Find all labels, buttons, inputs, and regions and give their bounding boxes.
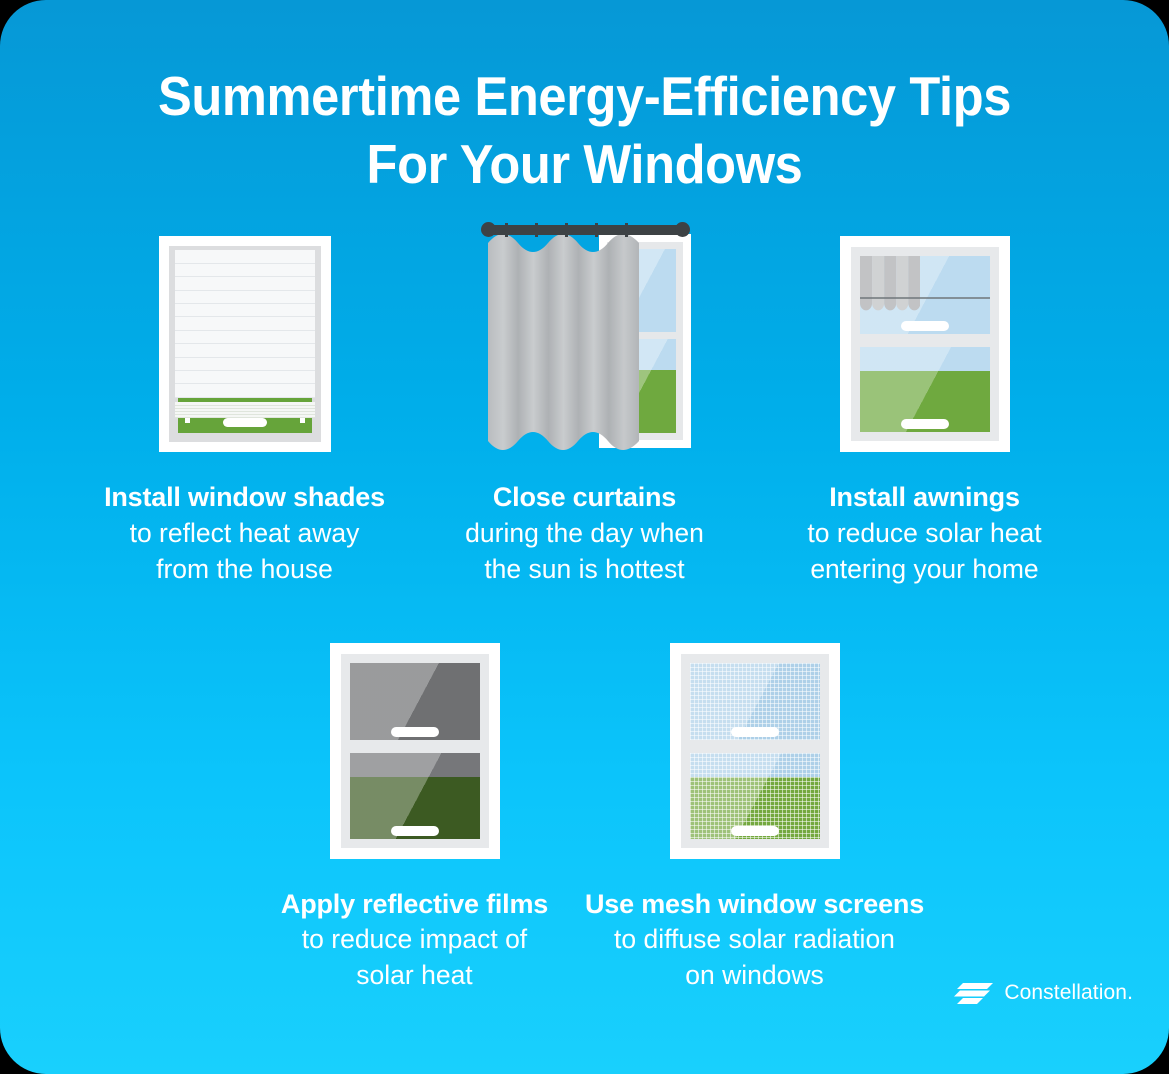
- brand-name: Constellation.: [1004, 981, 1133, 1005]
- tip-card-awnings: Install awnings to reduce solar heat ent…: [755, 220, 1095, 586]
- page-title: Summertime Energy-Efficiency Tips For Yo…: [47, 0, 1122, 198]
- tip-headline: Install window shades: [104, 481, 385, 513]
- blind-slat: [175, 317, 315, 330]
- title-line-1: Summertime Energy-Efficiency Tips: [84, 62, 1086, 130]
- mesh-screen-window-icon: [670, 643, 840, 859]
- curtain-rod-icon: [485, 225, 685, 235]
- curtain-rod-finial-icon: [675, 222, 690, 237]
- curtain-rod-finial-icon: [481, 222, 496, 237]
- tip-body-line-1: to reflect heat away: [104, 516, 385, 550]
- tip-card-reflective-films: Apply reflective films to reduce impact …: [245, 627, 585, 993]
- tip-card-mesh-screens: Use mesh window screens to diffuse solar…: [585, 627, 925, 993]
- tip-headline: Apply reflective films: [281, 888, 548, 920]
- blind-slat: [175, 331, 315, 344]
- blind-slat-compressed: [175, 415, 315, 418]
- tip-headline: Use mesh window screens: [585, 888, 924, 920]
- constellation-swoosh-icon: [953, 978, 995, 1008]
- tip-headline: Close curtains: [465, 481, 704, 513]
- tip-caption: Apply reflective films to reduce impact …: [281, 888, 548, 993]
- blind-slat: [175, 250, 315, 263]
- tip-caption: Close curtains during the day when the s…: [465, 481, 704, 586]
- curtain-window-icon: [479, 220, 691, 452]
- tip-headline: Install awnings: [807, 481, 1041, 513]
- tip-body-line-1: during the day when: [465, 516, 704, 550]
- tip-caption: Install awnings to reduce solar heat ent…: [807, 481, 1041, 586]
- awning-window-icon: [840, 236, 1010, 452]
- blind-slat: [175, 264, 315, 277]
- tip-card-window-shades: Install window shades to reflect heat aw…: [75, 220, 415, 586]
- tip-body-line-2: solar heat: [281, 958, 548, 992]
- blind-slat: [175, 291, 315, 304]
- blind-slat: [175, 344, 315, 357]
- tip-body-line-2: the sun is hottest: [465, 552, 704, 586]
- tip-caption: Use mesh window screens to diffuse solar…: [585, 888, 924, 993]
- tip-illustration-slot: [840, 220, 1010, 452]
- tip-illustration-slot: [159, 220, 331, 452]
- blind-slat: [175, 371, 315, 384]
- tinted-window-icon: [330, 643, 500, 859]
- tip-card-close-curtains: Close curtains during the day when the s…: [415, 220, 755, 586]
- tip-body-line-1: to reduce solar heat: [807, 516, 1041, 550]
- tip-body-line-1: to reduce impact of: [281, 922, 548, 956]
- tips-row-top: Install window shades to reflect heat aw…: [0, 220, 1169, 586]
- blind-slat: [175, 277, 315, 290]
- brand-logo: Constellation.: [953, 978, 1133, 1008]
- tip-illustration-slot: [670, 627, 840, 859]
- tip-illustration-slot: [330, 627, 500, 859]
- blind-slat: [175, 358, 315, 371]
- tips-row-bottom: Apply reflective films to reduce impact …: [0, 627, 1169, 993]
- tip-body-line-2: entering your home: [807, 552, 1041, 586]
- blind-slat: [175, 384, 315, 397]
- tip-body-line-2: on windows: [585, 958, 924, 992]
- window-blinds-icon: [159, 236, 331, 452]
- tip-illustration-slot: [479, 220, 691, 452]
- tip-caption: Install window shades to reflect heat aw…: [104, 481, 385, 586]
- blind-slat: [175, 304, 315, 317]
- infographic-poster: Summertime Energy-Efficiency Tips For Yo…: [0, 0, 1169, 1074]
- tip-body-line-2: from the house: [104, 552, 385, 586]
- title-line-2: For Your Windows: [84, 130, 1086, 198]
- tip-body-line-1: to diffuse solar radiation: [585, 922, 924, 956]
- awning-canopy-icon: [860, 256, 920, 316]
- curtain-fabric-icon: [488, 233, 639, 452]
